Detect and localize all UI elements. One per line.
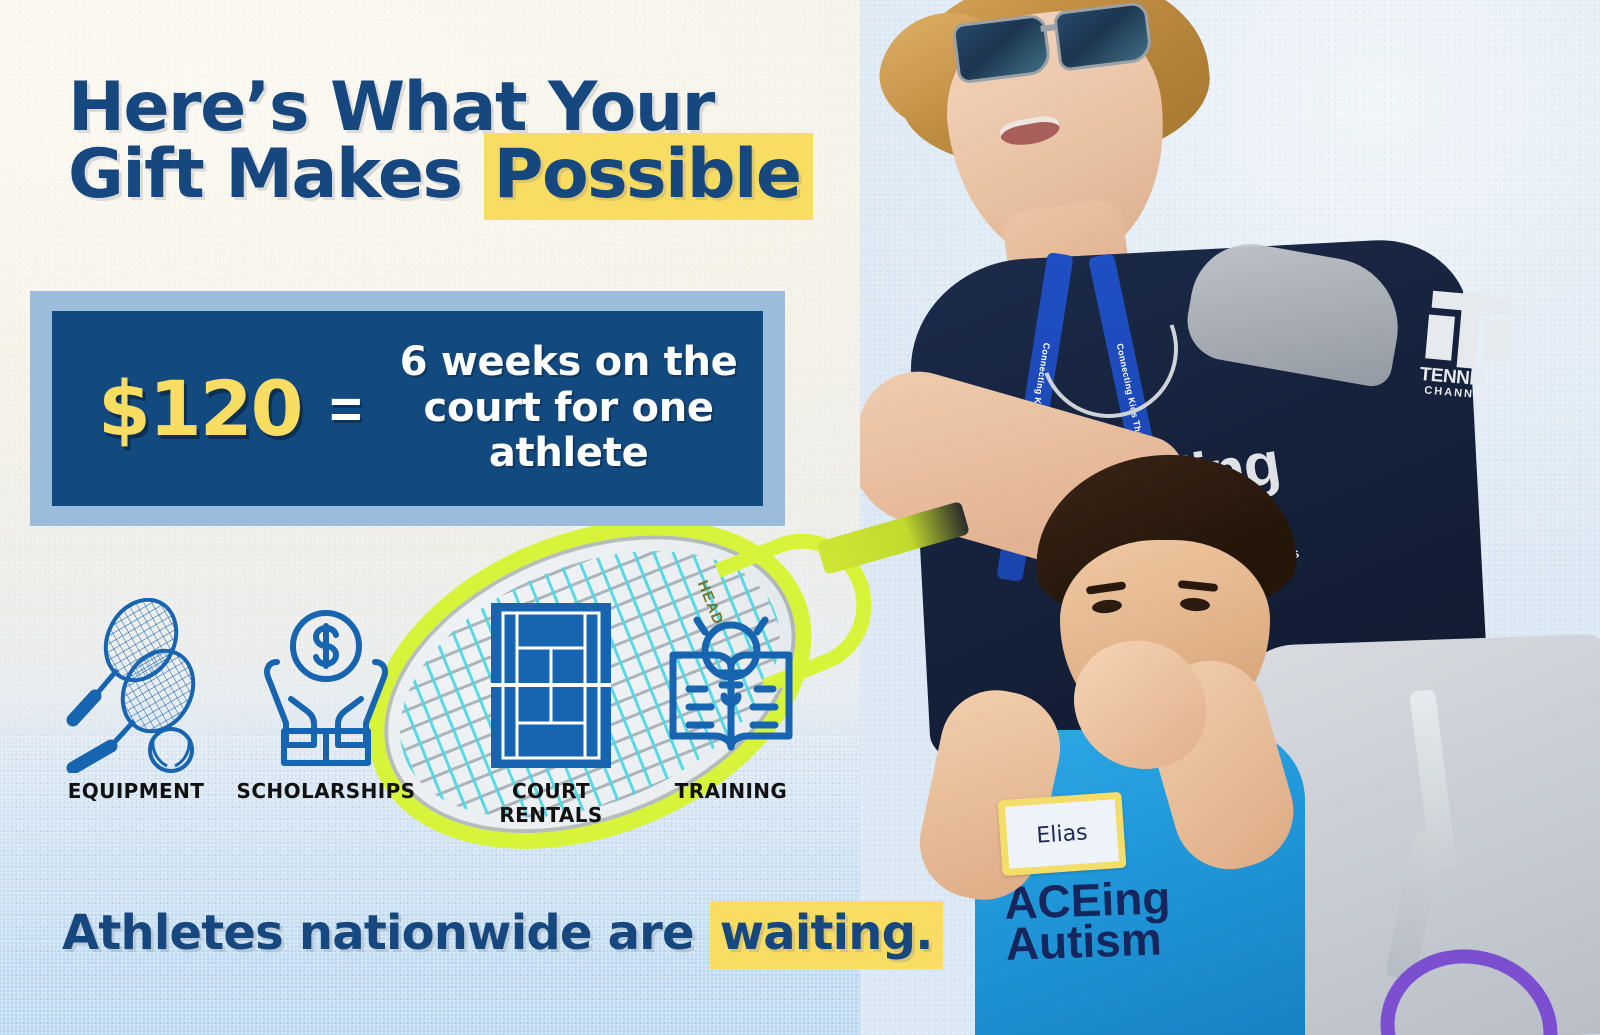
tagline-highlight: waiting. [710,901,943,969]
coach-and-child-photo: Connecting Kids Through Tennis Connectin… [860,0,1600,1035]
book-lightbulb-icon [641,590,821,780]
headline-highlight: Possible [484,133,813,220]
racket-grip [816,501,970,575]
feature-equipment: EQUIPMENT [46,590,226,804]
child-name-tag: Elias [998,792,1127,876]
feature-scholarships: SCHOLARSHIPS [236,590,416,804]
logo-square-right [1483,320,1510,362]
feature-label: SCHOLARSHIPS [236,780,416,804]
headline-line-1: Here’s What Your [68,74,858,141]
logo-square-left [1425,314,1455,360]
feature-label: TRAINING [641,780,821,804]
price-panel-frame: $120 = 6 weeks on the court for one athl… [30,291,785,526]
child-shirt-logo: ACEing Autism [1004,877,1173,966]
sunglasses-right-lens [1053,1,1154,72]
tennis-court-icon [461,590,641,780]
headline-line-2: Gift Makes Possible [68,141,858,208]
feature-court-rentals: COURT RENTALS [461,590,641,827]
price-panel: $120 = 6 weeks on the court for one athl… [52,311,763,506]
hands-holding-coin-icon [236,590,416,780]
tennis-channel-logo: TENNIS CHANNEL [1411,288,1525,415]
tennis-rackets-icon [46,590,226,780]
feature-training: TRAINING [641,590,821,804]
feature-label: EQUIPMENT [46,780,226,804]
sunglasses-left-lens [951,13,1052,84]
poster-canvas: Connecting Kids Through Tennis Connectin… [0,0,1600,1035]
tagline-plain: Athletes nationwide are [62,905,710,961]
impact-feature-list: EQUIPMENT SCHOLARSHIPS [46,590,836,860]
equals-sign: = [330,376,363,441]
child-shirt-line2: Autism [1005,918,1172,965]
price-amount: $120 [98,364,302,453]
price-description: 6 weeks on the court for one athlete [388,340,763,477]
feature-label: COURT RENTALS [461,780,641,827]
tennis-channel-mark-icon [1423,288,1515,371]
headline-line-2-plain: Gift Makes [68,135,484,214]
page-title: Here’s What Your Gift Makes Possible [68,74,858,209]
closing-tagline: Athletes nationwide are waiting. [62,905,943,961]
